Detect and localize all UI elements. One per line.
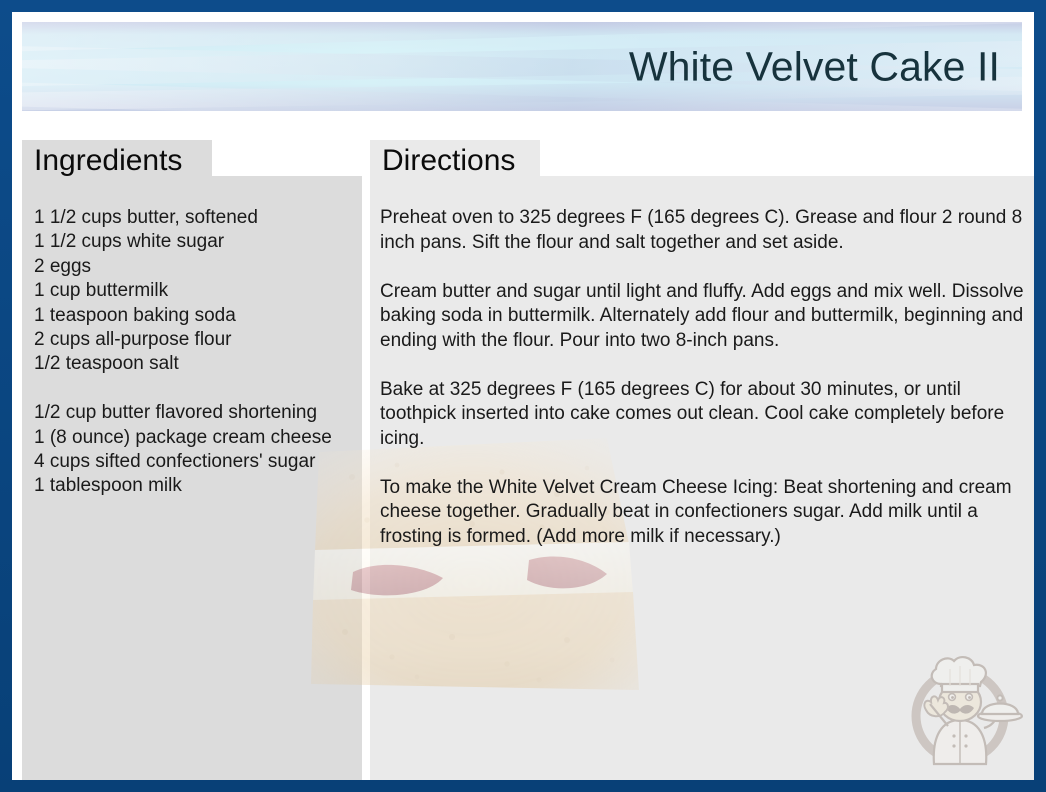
ingredient-item: 1/2 cup butter flavored shortening: [34, 401, 364, 425]
direction-paragraph: Bake at 325 degrees F (165 degrees C) fo…: [380, 378, 1028, 452]
ingredient-item: 1 1/2 cups butter, softened: [34, 206, 364, 230]
ingredient-spacer: [34, 377, 364, 401]
directions-heading: Directions: [370, 140, 540, 180]
ingredient-item: 1 (8 ounce) package cream cheese: [34, 426, 364, 450]
header-banner: White Velvet Cake II: [22, 22, 1022, 111]
direction-paragraph: To make the White Velvet Cream Cheese Ic…: [380, 476, 1028, 550]
ingredient-item: 1 cup buttermilk: [34, 279, 364, 303]
recipe-title: White Velvet Cake II: [629, 45, 1000, 88]
ingredient-item: 1/2 teaspoon salt: [34, 352, 364, 376]
direction-paragraph: Preheat oven to 325 degrees F (165 degre…: [380, 206, 1028, 255]
directions-text: Preheat oven to 325 degrees F (165 degre…: [380, 206, 1028, 574]
ingredient-item: 1 tablespoon milk: [34, 474, 364, 498]
ingredient-item: 2 cups all-purpose flour: [34, 328, 364, 352]
direction-paragraph: Cream butter and sugar until light and f…: [380, 280, 1028, 354]
ingredient-item: 1 1/2 cups white sugar: [34, 230, 364, 254]
ingredient-item: 2 eggs: [34, 255, 364, 279]
recipe-page: White Velvet Cake II Ingredients Directi…: [12, 12, 1034, 780]
ingredients-heading: Ingredients: [22, 140, 212, 180]
recipe-card: White Velvet Cake II Ingredients Directi…: [0, 0, 1046, 792]
ingredient-item: 1 teaspoon baking soda: [34, 304, 364, 328]
ingredients-list: 1 1/2 cups butter, softened1 1/2 cups wh…: [34, 206, 364, 499]
ingredient-item: 4 cups sifted confectioners' sugar: [34, 450, 364, 474]
